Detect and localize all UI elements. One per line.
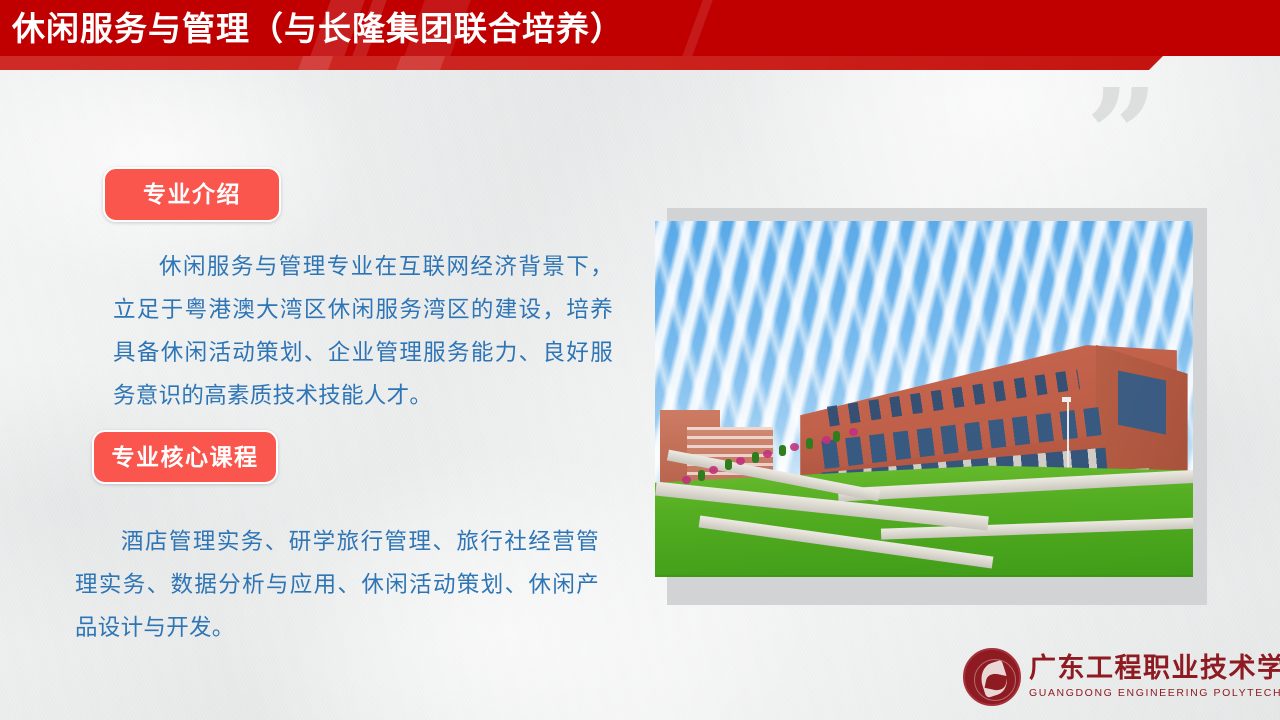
logo-swoosh-inner-shape (985, 672, 1008, 692)
slide-header: 休闲服务与管理（与长隆集团联合培养） (0, 0, 1280, 70)
photo-lamp-post (1067, 399, 1069, 477)
photo-shrub (806, 438, 813, 449)
campus-photo (655, 221, 1193, 577)
logo-name-english: GUANGDONG ENGINEERING POLYTECHNIC (1029, 687, 1280, 699)
section-body-intro: 休闲服务与管理专业在互联网经济背景下，立足于粤港澳大湾区休闲服务湾区的建设，培养… (113, 245, 613, 417)
photo-shrub (833, 431, 840, 442)
institution-logo: 广东工程职业技术学院 GUANGDONG ENGINEERING POLYTEC… (963, 646, 1241, 708)
section-badge-intro[interactable]: 专业介绍 (103, 167, 281, 222)
photo-flower-shrub (790, 443, 799, 451)
photo-shrub (698, 470, 705, 481)
photo-shrub (779, 445, 786, 456)
photo-bottom-edge (655, 575, 1193, 577)
header-underbar-stripe (395, 56, 445, 70)
page-title: 休闲服务与管理（与长隆集团联合培养） (12, 2, 624, 56)
header-stripe-decor (670, 0, 720, 56)
slide-canvas: 休闲服务与管理（与长隆集团联合培养） ” 专业介绍 休闲服务与管理专业在互联网经… (0, 0, 1280, 720)
logo-seal-icon (963, 648, 1021, 706)
section-body-core-courses: 酒店管理实务、研学旅行管理、旅行社经营管理实务、数据分析与应用、休闲活动策划、休… (75, 520, 599, 649)
photo-flower-shrub (763, 450, 772, 458)
photo-flower-shrub (709, 466, 718, 474)
header-underbar-stripe (297, 56, 333, 70)
photo-flower-shrub (822, 436, 831, 444)
photo-shrub (725, 459, 732, 470)
quote-mark-watermark-icon: ” (1086, 78, 1160, 140)
logo-swoosh-shape (977, 660, 1012, 698)
section-badge-core-courses[interactable]: 专业核心课程 (92, 430, 278, 484)
photo-lamp-head (1062, 397, 1071, 402)
photo-flower-shrub (736, 457, 745, 465)
logo-name-chinese: 广东工程职业技术学院 (1029, 655, 1280, 683)
photo-shrub (752, 452, 759, 463)
header-underbar (0, 56, 1163, 70)
logo-text-block: 广东工程职业技术学院 GUANGDONG ENGINEERING POLYTEC… (1029, 655, 1280, 698)
